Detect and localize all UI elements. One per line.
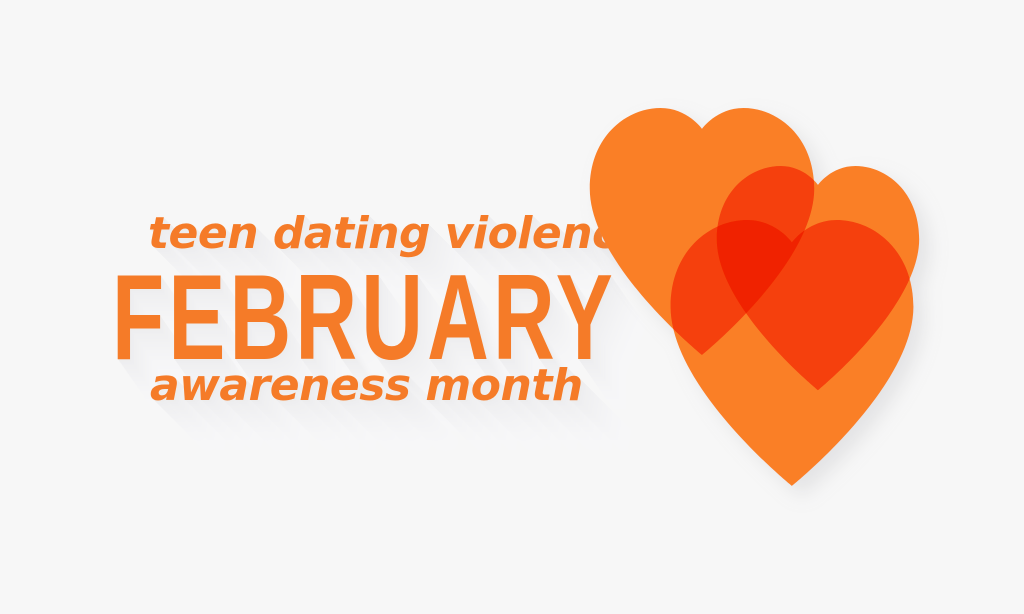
headline-bottom-line: awareness month xyxy=(150,364,583,408)
hearts-group xyxy=(590,108,919,486)
hearts-svg xyxy=(560,80,960,490)
heart-bottom xyxy=(671,220,914,486)
hearts-graphic xyxy=(560,80,960,490)
poster-canvas: teen dating violence FEBRUARY awareness … xyxy=(0,0,1024,614)
